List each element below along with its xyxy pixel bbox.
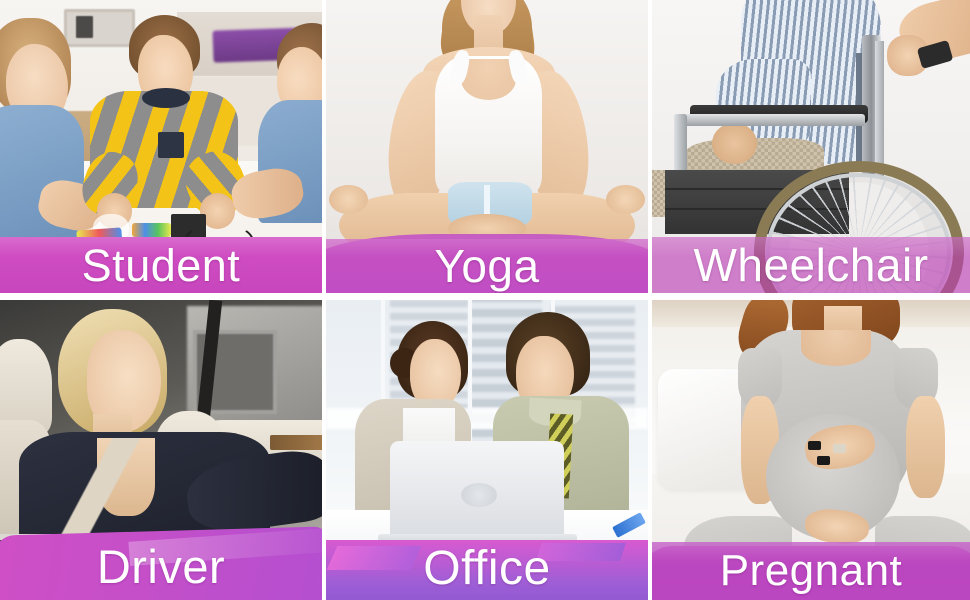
collage-cell-pregnant[interactable]: Pregnant [652,300,970,600]
collage-cell-student[interactable]: Student [0,0,322,293]
label-band-driver: Driver [0,536,322,600]
cell-label-pregnant: Pregnant [720,549,903,593]
cell-label-yoga: Yoga [434,243,539,289]
divider-horizontal-1 [0,293,322,300]
divider-horizontal-2 [326,293,648,300]
label-band-yoga: Yoga [326,239,648,293]
label-band-office: Office [326,538,648,600]
use-case-collage: Student Y [0,0,970,600]
cell-label-wheelchair: Wheelchair [693,242,928,288]
cell-label-student: Student [82,243,241,288]
label-band-wheelchair: Wheelchair [652,237,970,293]
cell-label-office: Office [423,545,551,593]
label-band-student: Student [0,237,322,293]
divider-horizontal-3 [652,293,970,300]
collage-cell-office[interactable]: Office [326,300,648,600]
label-band-pregnant: Pregnant [652,542,970,600]
collage-cell-yoga[interactable]: Yoga [326,0,648,293]
collage-cell-wheelchair[interactable]: Wheelchair [652,0,970,293]
cell-label-driver: Driver [97,543,225,590]
collage-cell-driver[interactable]: Driver [0,300,322,600]
